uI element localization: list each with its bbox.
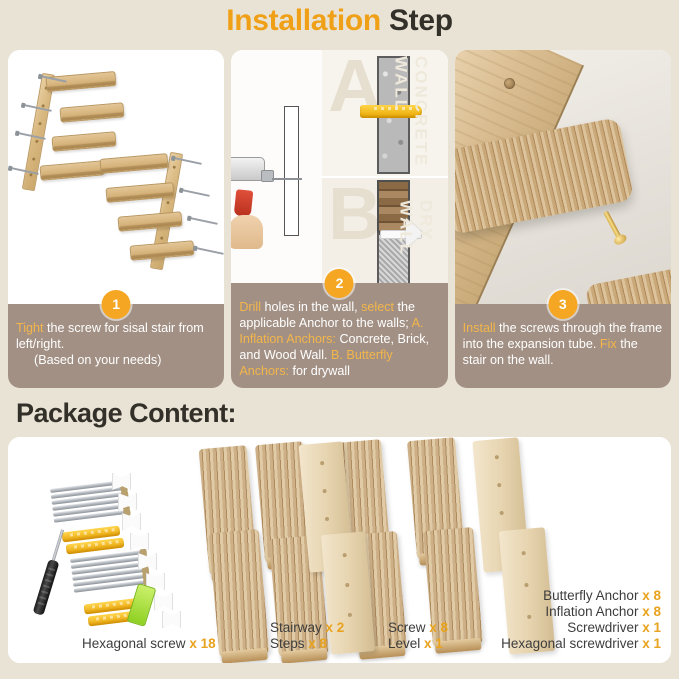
- drill-body: [231, 157, 265, 181]
- parts-labels: Hexagonal screw x 18 Stairway x 2 Steps …: [8, 593, 671, 657]
- package-content-title: Package Content:: [16, 398, 236, 429]
- stair-tread: [129, 240, 194, 261]
- part-label-hexagonal-screwdriver: Hexagonal screwdriver x 1: [501, 635, 661, 653]
- step-1-caption: 1 Tight the screw for sisal stair from l…: [8, 304, 224, 388]
- step-2-body-4: for drywall: [289, 364, 350, 378]
- watermark-concrete-wall: CONCRETE WALL: [391, 56, 431, 176]
- part-label-steps: Steps x 8: [270, 635, 327, 653]
- step-1-badge: 1: [102, 290, 131, 319]
- screw-icon: [182, 189, 210, 197]
- infographic-page: Installation Step: [0, 0, 679, 679]
- drill-handle: [234, 189, 254, 217]
- package-content-photo: Hexagonal screw x 18 Stairway x 2 Steps …: [8, 437, 671, 663]
- stair-tread: [45, 71, 116, 92]
- step-card-2: A CONCRETE WALL B DRY WALL: [231, 50, 447, 388]
- step-2-body-1: holes in the wall,: [261, 300, 361, 314]
- stair-tread: [117, 211, 182, 232]
- drill-illustration: [231, 50, 322, 283]
- gold-screw-icon: [604, 211, 622, 240]
- package-content-card: Hexagonal screw x 18 Stairway x 2 Steps …: [8, 437, 671, 663]
- step-2-photo: A CONCRETE WALL B DRY WALL: [231, 50, 447, 283]
- drill-chuck: [261, 170, 274, 182]
- title-highlight: Installation: [226, 4, 381, 37]
- step-1-body: the screw for sisal stair from left/righ…: [16, 321, 204, 351]
- stair-tread: [99, 153, 168, 174]
- step-3-badge: 3: [548, 290, 577, 319]
- anchor-diagram-a: A CONCRETE WALL: [322, 50, 447, 176]
- installation-steps: 1 Tight the screw for sisal stair from l…: [8, 50, 671, 388]
- step-1-text-2: (Based on your needs): [16, 353, 216, 369]
- title-rest: Step: [381, 4, 453, 37]
- butterfly-anchor: [122, 513, 141, 530]
- hand: [231, 215, 263, 249]
- step-2-caption: 2 Drill holes in the wall, select the ap…: [231, 283, 447, 388]
- screw-icon: [196, 247, 224, 255]
- step-3-photo: [455, 50, 671, 304]
- stair-tread: [51, 131, 116, 152]
- step-card-1: 1 Tight the screw for sisal stair from l…: [8, 50, 224, 388]
- step-3-caption: 3 Install the screws through the frame i…: [455, 304, 671, 388]
- letter-b: B: [328, 180, 381, 248]
- stair-tread: [39, 160, 104, 181]
- wall-cross-section: [284, 106, 299, 236]
- page-title: Installation Step: [0, 4, 679, 38]
- sisal-step-lower: [585, 262, 671, 304]
- step-3-hl-install: Install: [463, 321, 496, 335]
- watermark-dry-wall: DRY WALL: [396, 200, 436, 283]
- stair-tread: [59, 102, 124, 123]
- part-label-hexagonal-screw: Hexagonal screw x 18: [82, 635, 216, 653]
- step-2-badge: 2: [325, 269, 354, 298]
- drill-bit: [272, 178, 302, 180]
- step-1-highlight: Tight: [16, 321, 44, 335]
- butterfly-anchor: [130, 533, 149, 550]
- step-card-3: 3 Install the screws through the frame i…: [455, 50, 671, 388]
- screw-icon: [190, 217, 218, 225]
- step-3-hl-fix: Fix: [600, 337, 617, 351]
- anchor-diagram-b: B DRY WALL: [322, 178, 447, 283]
- part-label-level: Level x 1: [388, 635, 443, 653]
- step-1-text-1: Tight the screw for sisal stair from lef…: [16, 321, 204, 351]
- step-1-photo: [8, 50, 224, 304]
- step-2-hl-drill: Drill: [239, 300, 261, 314]
- step-2-hl-select: select: [361, 300, 394, 314]
